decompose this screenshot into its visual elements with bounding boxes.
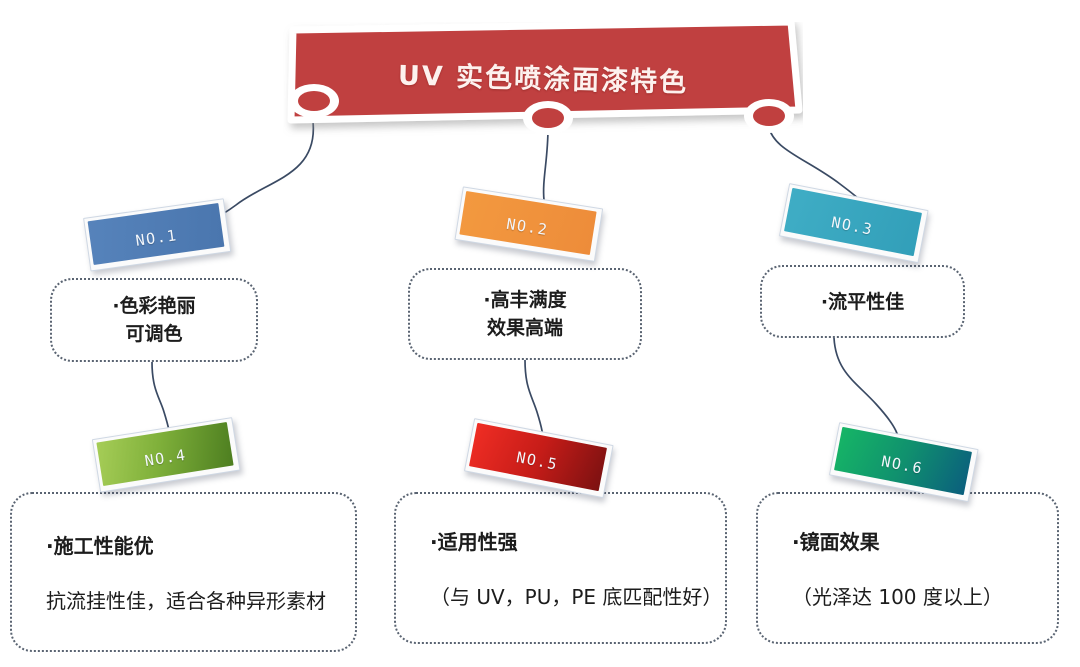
content-box-5-line-2: （与 UV，PU，PE 底匹配性好）: [430, 581, 722, 610]
content-box-1: ·色彩艳丽 可调色: [50, 278, 258, 362]
page-title: UV 实色喷涂面漆特色: [397, 53, 688, 105]
content-box-6-line-2: （光泽达 100 度以上）: [792, 581, 1003, 610]
content-box-4: ·施工性能优 抗流挂性佳，适合各种异形素材: [10, 492, 357, 652]
content-box-5: ·适用性强 （与 UV，PU，PE 底匹配性好）: [394, 492, 727, 644]
number-tag-4[interactable]: NO.4: [92, 417, 238, 490]
content-box-2-line-1: ·高丰满度: [483, 286, 566, 314]
number-tag-1-fill: NO.1: [88, 203, 225, 265]
content-box-6-line-1: ·镜面效果: [792, 526, 880, 555]
number-tag-6[interactable]: NO.6: [829, 422, 976, 500]
content-box-6: ·镜面效果 （光泽达 100 度以上）: [756, 492, 1059, 644]
content-box-1-line-1: ·色彩艳丽: [112, 292, 195, 320]
content-box-4-line-1: ·施工性能优: [46, 530, 154, 559]
number-tag-5-label: NO.5: [515, 448, 560, 474]
number-tag-4-label: NO.4: [143, 446, 187, 470]
content-box-2: ·高丰满度 效果高端: [408, 268, 642, 360]
title-banner: UV 实色喷涂面漆特色: [283, 22, 803, 137]
content-box-4-line-2: 抗流挂性佳，适合各种异形素材: [46, 585, 326, 614]
number-tag-2-label: NO.2: [505, 215, 549, 239]
content-box-1-line-2: 可调色: [125, 320, 182, 348]
number-tag-5[interactable]: NO.5: [464, 418, 611, 496]
content-box-5-line-1: ·适用性强: [430, 526, 518, 555]
number-tag-3-label: NO.3: [830, 213, 875, 239]
banner-text-wrap: UV 实色喷涂面漆特色: [282, 16, 805, 144]
number-tag-2[interactable]: NO.2: [455, 186, 601, 259]
number-tag-6-label: NO.6: [880, 452, 925, 478]
content-box-3: ·流平性佳: [760, 265, 965, 338]
number-tag-3[interactable]: NO.3: [779, 183, 926, 261]
number-tag-1[interactable]: NO.1: [83, 199, 229, 270]
content-box-3-line-1: ·流平性佳: [821, 288, 904, 316]
content-box-2-line-2: 效果高端: [487, 314, 563, 342]
number-tag-1-label: NO.1: [134, 226, 178, 250]
infographic-canvas: UV 实色喷涂面漆特色 ·色彩艳丽 可调色 ·高丰满度 效果高端 ·流平性佳 ·…: [0, 0, 1080, 667]
